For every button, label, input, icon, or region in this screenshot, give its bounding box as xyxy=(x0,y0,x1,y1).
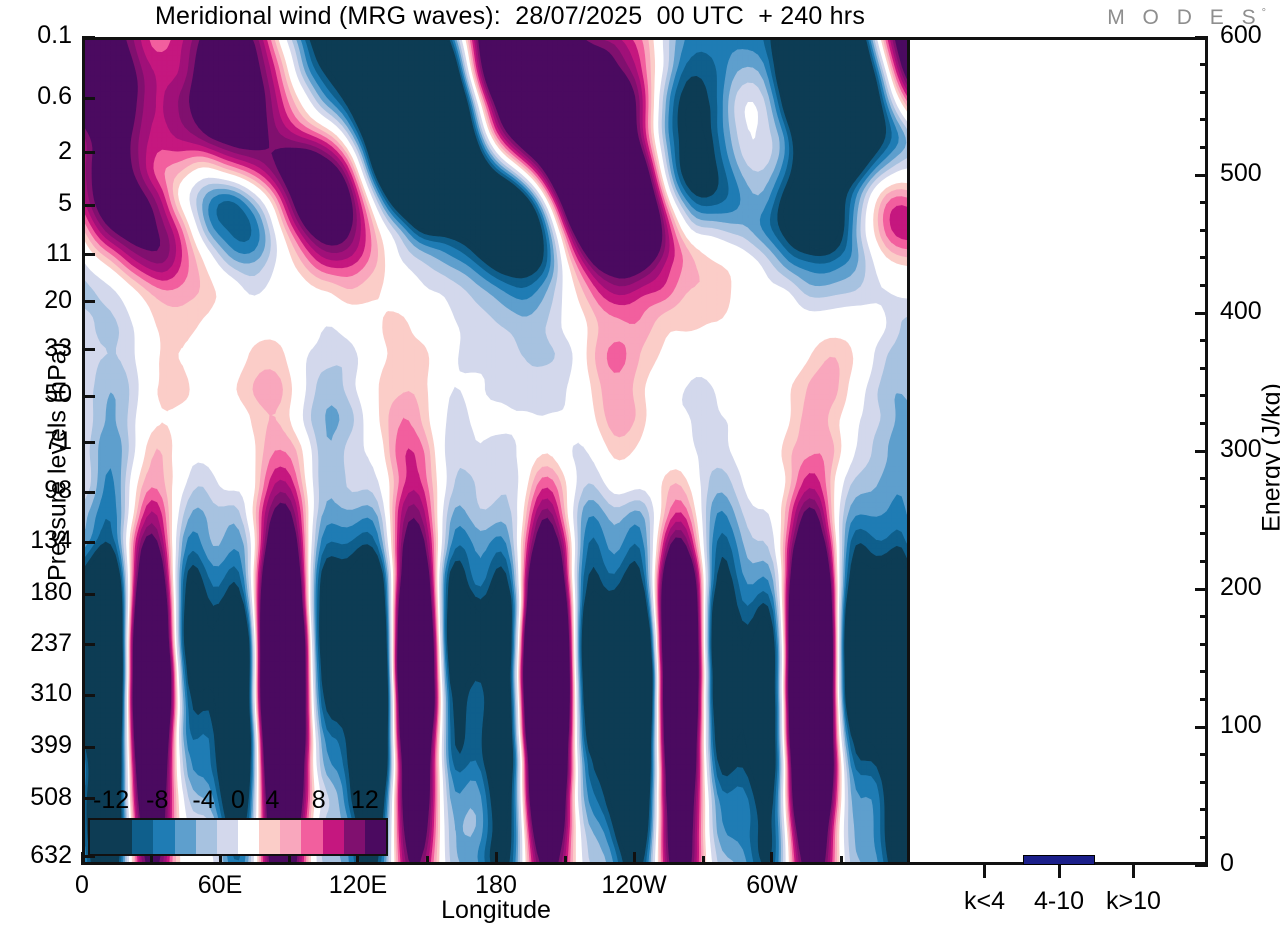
pressure-tick-label: 180 xyxy=(30,578,72,607)
pressure-tick-mark xyxy=(82,694,95,697)
longitude-tick-minor xyxy=(702,856,705,865)
energy-tick-major xyxy=(1195,450,1208,453)
longitude-tick-minor xyxy=(150,856,153,865)
colorbar-swatch-2 xyxy=(132,820,153,854)
pressure-tick-mark xyxy=(82,204,95,207)
contour-plot-panel xyxy=(82,37,910,865)
longitude-tick-label: 60E xyxy=(198,871,242,900)
energy-tick-minor xyxy=(1200,753,1208,756)
colorbar-tick-label: -12 xyxy=(93,786,129,815)
colorbar-swatch-11 xyxy=(323,820,344,854)
energy-tick-major xyxy=(1195,174,1208,177)
longitude-tick-label: 120E xyxy=(329,871,387,900)
energy-tick-label: 500 xyxy=(1220,159,1262,188)
energy-tick-minor xyxy=(1200,63,1208,66)
pressure-tick-mark xyxy=(82,253,95,256)
pressure-tick-label: 5 xyxy=(58,189,72,218)
energy-tick-minor xyxy=(1200,615,1208,618)
energy-tick-label: 0 xyxy=(1220,849,1234,878)
pressure-tick-mark xyxy=(82,151,95,154)
colorbar-swatch-0 xyxy=(90,820,111,854)
energy-tick-minor xyxy=(1200,477,1208,480)
colorbar-swatch-5 xyxy=(196,820,217,854)
pressure-tick-label: 71 xyxy=(44,427,72,456)
colorbar-tick-label: 4 xyxy=(266,786,280,815)
energy-tick-minor xyxy=(1200,256,1208,259)
energy-bar-4-10 xyxy=(1023,855,1095,865)
pressure-tick-label: 399 xyxy=(30,731,72,760)
energy-bar-label: k<4 xyxy=(964,887,1005,916)
energy-tick-minor xyxy=(1200,339,1208,342)
figure-root: Meridional wind (MRG waves): 28/07/2025 … xyxy=(0,0,1280,930)
pressure-tick-label: 11 xyxy=(46,239,72,268)
energy-tick-minor xyxy=(1200,698,1208,701)
energy-tick-minor xyxy=(1200,367,1208,370)
page-title: Meridional wind (MRG waves): 28/07/2025 … xyxy=(0,2,1020,31)
pressure-tick-mark xyxy=(82,36,95,39)
pressure-tick-mark xyxy=(82,643,95,646)
pressure-tick-label: 237 xyxy=(30,629,72,658)
pressure-tick-mark xyxy=(82,441,95,444)
pressure-tick-label: 134 xyxy=(30,526,72,555)
longitude-tick-label: 60W xyxy=(746,871,797,900)
energy-tick-minor xyxy=(1200,201,1208,204)
pressure-tick-mark xyxy=(82,395,95,398)
pressure-tick-label: 310 xyxy=(30,679,72,708)
energy-tick-label: 400 xyxy=(1220,297,1262,326)
longitude-tick-label: 0 xyxy=(75,871,89,900)
energy-tick-major xyxy=(1195,726,1208,729)
longitude-tick-major xyxy=(81,852,84,865)
energy-tick-minor xyxy=(1200,284,1208,287)
longitude-tick-label: 120W xyxy=(601,871,666,900)
energy-tick-minor xyxy=(1200,422,1208,425)
energy-tick-minor xyxy=(1200,532,1208,535)
energy-tick-minor xyxy=(1200,146,1208,149)
colorbar-tick-label: -4 xyxy=(192,786,214,815)
longitude-tick-major xyxy=(495,852,498,865)
pressure-tick-label: 98 xyxy=(44,476,72,505)
colorbar-swatch-7 xyxy=(238,820,259,854)
pressure-tick-label: 0.6 xyxy=(37,82,72,111)
colorbar-tick-label: 8 xyxy=(312,786,326,815)
pressure-tick-label: 33 xyxy=(44,334,72,363)
longitude-tick-minor xyxy=(426,856,429,865)
energy-tick-minor xyxy=(1200,229,1208,232)
energy-cat-tick xyxy=(1058,865,1061,878)
energy-bar-panel xyxy=(910,37,1208,865)
longitude-tick-minor xyxy=(840,856,843,865)
energy-tick-minor xyxy=(1200,91,1208,94)
energy-bar-label: 4-10 xyxy=(1034,887,1084,916)
energy-tick-label: 200 xyxy=(1220,573,1262,602)
pressure-tick-label: 632 xyxy=(30,841,72,870)
energy-tick-major xyxy=(1195,588,1208,591)
energy-cat-tick xyxy=(983,865,986,878)
pressure-tick-mark xyxy=(82,97,95,100)
energy-tick-minor xyxy=(1200,836,1208,839)
colorbar-swatch-10 xyxy=(301,820,322,854)
colorbar-swatch-8 xyxy=(259,820,280,854)
meridional-wind-contour-field xyxy=(85,40,907,862)
longitude-tick-major xyxy=(633,852,636,865)
colorbar-tick-label: 0 xyxy=(231,786,245,815)
energy-tick-major xyxy=(1195,312,1208,315)
pressure-tick-mark xyxy=(82,348,95,351)
energy-tick-minor xyxy=(1200,505,1208,508)
modes-logo-mark: ° xyxy=(1262,7,1266,19)
colorbar-swatch-12 xyxy=(344,820,365,854)
energy-tick-major xyxy=(1195,36,1208,39)
pressure-tick-mark xyxy=(82,541,95,544)
colorbar-tick-label: -8 xyxy=(146,786,168,815)
longitude-tick-label: 180 xyxy=(475,871,517,900)
x-axis-label: Longitude xyxy=(82,896,910,925)
energy-tick-minor xyxy=(1200,394,1208,397)
colorbar-swatch-13 xyxy=(365,820,386,854)
pressure-tick-mark xyxy=(82,746,95,749)
pressure-tick-label: 20 xyxy=(44,286,72,315)
energy-tick-label: 300 xyxy=(1220,435,1262,464)
colorbar-swatch-1 xyxy=(111,820,132,854)
pressure-tick-label: 50 xyxy=(44,380,72,409)
longitude-tick-minor xyxy=(564,856,567,865)
pressure-tick-label: 0.1 xyxy=(37,21,72,50)
colorbar-swatch-4 xyxy=(175,820,196,854)
pressure-tick-mark xyxy=(82,491,95,494)
energy-tick-major xyxy=(1195,864,1208,867)
energy-tick-minor xyxy=(1200,670,1208,673)
colorbar-swatch-9 xyxy=(280,820,301,854)
energy-cat-tick xyxy=(1132,865,1135,878)
colorbar-tick-label: 12 xyxy=(351,786,379,815)
longitude-tick-minor xyxy=(288,856,291,865)
energy-tick-label: 600 xyxy=(1220,21,1262,50)
energy-tick-minor xyxy=(1200,781,1208,784)
energy-tick-minor xyxy=(1200,643,1208,646)
longitude-tick-major xyxy=(770,852,773,865)
energy-tick-label: 100 xyxy=(1220,711,1262,740)
energy-tick-minor xyxy=(1200,560,1208,563)
energy-bar-label: k>10 xyxy=(1106,887,1161,916)
colorbar-labels: -12-8-404812 xyxy=(80,786,400,814)
colorbar-swatch-3 xyxy=(153,820,174,854)
pressure-tick-label: 508 xyxy=(30,783,72,812)
colorbar xyxy=(88,818,388,856)
pressure-tick-label: 2 xyxy=(58,137,72,166)
energy-tick-minor xyxy=(1200,118,1208,121)
pressure-tick-mark xyxy=(82,593,95,596)
colorbar-swatch-6 xyxy=(217,820,238,854)
pressure-tick-mark xyxy=(82,300,95,303)
energy-tick-minor xyxy=(1200,808,1208,811)
